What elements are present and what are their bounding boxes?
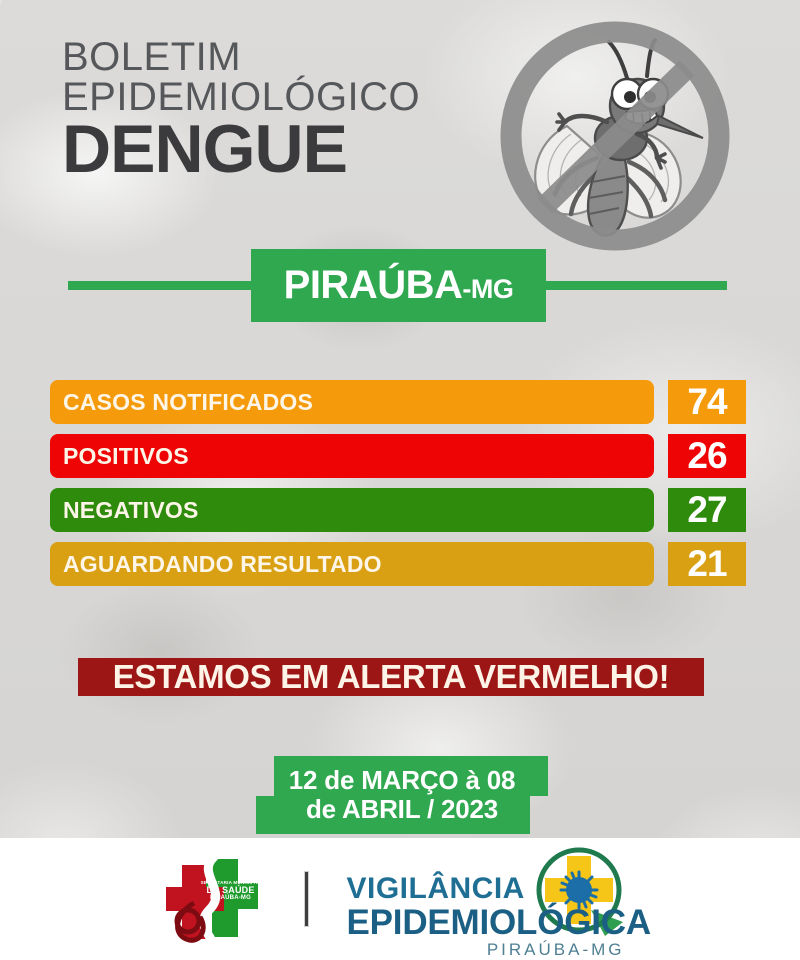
health-logo-line-2: DE SAÚDE bbox=[200, 886, 262, 895]
stat-label: POSITIVOS bbox=[63, 443, 189, 470]
vigilancia-line-1: VIGILÂNCIA bbox=[347, 874, 647, 905]
footer-divider bbox=[304, 871, 309, 927]
vigilancia-line-2: EPIDEMIOLÓGICA bbox=[347, 905, 647, 941]
alert-banner: ESTAMOS EM ALERTA VERMELHO! bbox=[78, 658, 704, 696]
vigilancia-logo-text: VIGILÂNCIA EPIDEMIOLÓGICA PIRAÚBA-MG bbox=[347, 874, 647, 959]
statistics-list: CASOS NOTIFICADOS 74 POSITIVOS 26 NEGATI… bbox=[50, 380, 746, 596]
city-uf: -MG bbox=[462, 274, 513, 304]
stat-value: 26 bbox=[668, 434, 746, 478]
stat-label: AGUARDANDO RESULTADO bbox=[63, 551, 382, 578]
poster-title: BOLETIM EPIDEMIOLÓGICO DENGUE bbox=[62, 38, 420, 182]
stat-value: 27 bbox=[668, 488, 746, 532]
date-line-1: 12 de MARÇO à 08 bbox=[289, 766, 516, 795]
stat-bar: AGUARDANDO RESULTADO bbox=[50, 542, 654, 586]
vigilancia-line-3: PIRAÚBA-MG bbox=[347, 941, 647, 958]
city-banner: PIRAÚBA-MG bbox=[251, 249, 546, 322]
stat-bar: CASOS NOTIFICADOS bbox=[50, 380, 654, 424]
city-name: PIRAÚBA-MG bbox=[284, 263, 514, 308]
stat-label: NEGATIVOS bbox=[63, 497, 199, 524]
stat-row-positivos: POSITIVOS 26 bbox=[50, 434, 746, 478]
date-range-text: 12 de MARÇO à 08 de ABRIL / 2023 bbox=[256, 756, 548, 834]
stat-value: 21 bbox=[668, 542, 746, 586]
date-range-block: 12 de MARÇO à 08 de ABRIL / 2023 bbox=[256, 756, 548, 834]
dengue-bulletin-poster: BOLETIM EPIDEMIOLÓGICO DENGUE bbox=[0, 0, 800, 960]
alert-text: ESTAMOS EM ALERTA VERMELHO! bbox=[113, 658, 670, 696]
stat-bar: POSITIVOS bbox=[50, 434, 654, 478]
health-cross-drop-logo: SECRETARIA MUNICIPAL DE SAÚDE PIRAÚBA-MG bbox=[154, 851, 266, 947]
stat-row-aguardando-resultado: AGUARDANDO RESULTADO 21 bbox=[50, 542, 746, 586]
no-mosquito-icon bbox=[497, 18, 733, 254]
stat-row-negativos: NEGATIVOS 27 bbox=[50, 488, 746, 532]
title-line-dengue: DENGUE bbox=[62, 117, 420, 182]
health-logo-line-3: PIRAÚBA-MG bbox=[200, 895, 262, 901]
stat-row-casos-notificados: CASOS NOTIFICADOS 74 bbox=[50, 380, 746, 424]
title-line-boletim: BOLETIM bbox=[62, 38, 420, 76]
stat-value: 74 bbox=[668, 380, 746, 424]
footer-logos: SECRETARIA MUNICIPAL DE SAÚDE PIRAÚBA-MG bbox=[154, 844, 647, 954]
date-line-2: de ABRIL / 2023 bbox=[306, 795, 498, 824]
stat-bar: NEGATIVOS bbox=[50, 488, 654, 532]
health-logo-text: SECRETARIA MUNICIPAL DE SAÚDE PIRAÚBA-MG bbox=[200, 881, 262, 902]
footer-bar: SECRETARIA MUNICIPAL DE SAÚDE PIRAÚBA-MG bbox=[0, 838, 800, 960]
stat-label: CASOS NOTIFICADOS bbox=[63, 389, 313, 416]
vigilancia-epidemiologica-logo: VIGILÂNCIA EPIDEMIOLÓGICA PIRAÚBA-MG bbox=[347, 844, 647, 954]
